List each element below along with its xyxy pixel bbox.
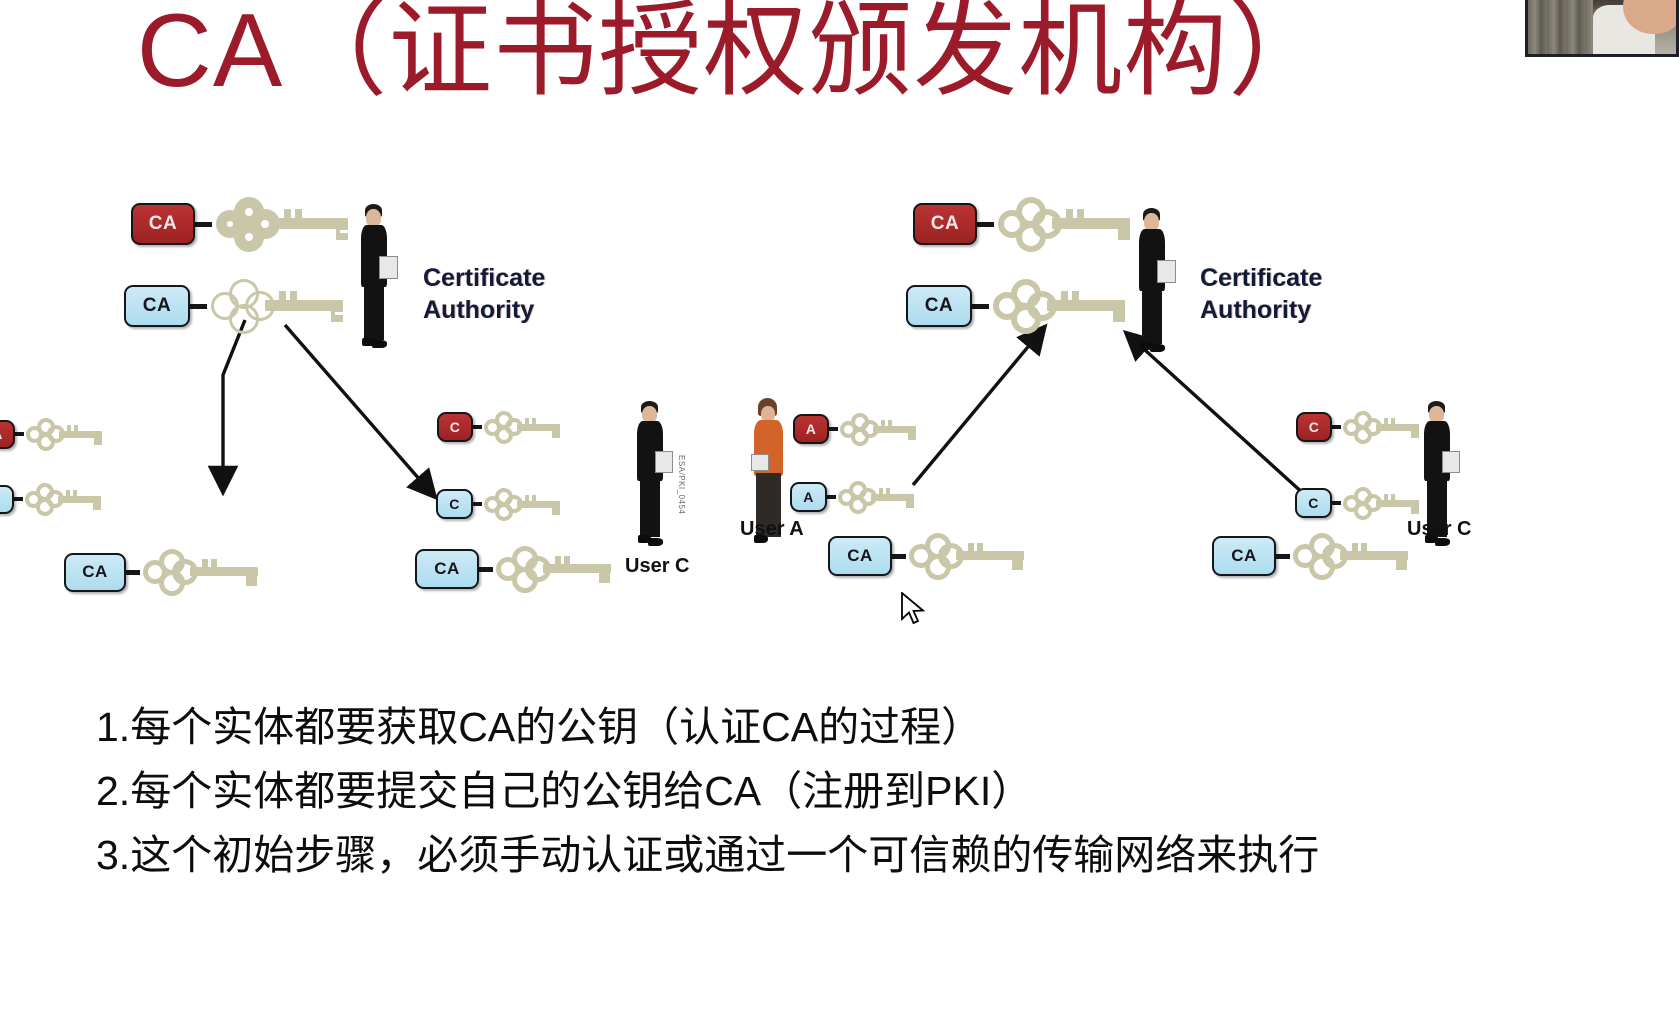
left-ca-private-key-icon — [212, 196, 352, 252]
right-user-a-ca-public-key-pair[interactable]: CA — [828, 532, 1026, 580]
tag-text: CA — [149, 213, 177, 235]
left-user-c-public-key-icon — [482, 487, 560, 521]
tag-text: A — [803, 489, 814, 505]
right-ca-public-key-icon — [989, 278, 1129, 334]
list-item: 3.这个初始步骤，必须手动认证或通过一个可信赖的传输网络来执行 — [96, 828, 1596, 883]
right-user-c-ca-public-key-stem — [1275, 554, 1290, 559]
right-ca-public-key-pair[interactable]: CA — [906, 278, 1129, 334]
left-certificate-authority-person — [352, 204, 394, 349]
right-user-a-ca-public-key-tag[interactable]: CA — [828, 536, 892, 576]
right-user-a-public-key-stem — [826, 495, 836, 499]
left-user-c-public-key-tag[interactable]: C — [436, 489, 473, 519]
presenter-webcam-overlay[interactable] — [1525, 0, 1679, 57]
right-user-c-public-key-stem — [1331, 501, 1341, 505]
left-user-c-private-key-pair[interactable]: C — [437, 410, 560, 444]
right-user-a-public-key-icon — [836, 480, 914, 514]
left-user-c-ca-public-key-stem — [478, 567, 493, 572]
right-user-c-label: User C — [1407, 518, 1471, 541]
tag-text: CA — [82, 562, 108, 582]
right-user-c-private-key-tag[interactable]: C — [1296, 412, 1332, 442]
left-user-a-private-key-tag[interactable]: A — [0, 420, 15, 449]
bullet-number: 3. — [96, 828, 130, 883]
tag-text: CA — [925, 295, 953, 317]
bullet-text: 每个实体都要获取CA的公钥（认证CA的过程） — [130, 704, 982, 750]
arrow-ca-to-user-a — [223, 320, 245, 480]
right-user-c-ca-public-key-tag[interactable]: CA — [1212, 536, 1276, 576]
right-user-c-ca-public-key-icon — [1290, 532, 1410, 580]
left-ca-private-key-tag[interactable]: CA — [131, 203, 195, 245]
list-item: 2.每个实体都要提交自己的公钥给CA（注册到PKI） — [96, 764, 1596, 819]
right-user-a-private-key-pair[interactable]: A — [793, 412, 916, 446]
right-user-c-public-key-tag[interactable]: C — [1295, 488, 1332, 518]
tag-text: C — [450, 419, 461, 435]
right-user-a-private-key-tag[interactable]: A — [793, 414, 829, 444]
right-user-a-private-key-stem — [828, 427, 838, 431]
right-user-a-public-key-tag[interactable]: A — [790, 482, 827, 512]
left-user-a-public-key-tag[interactable]: A — [0, 485, 14, 514]
left-user-a-public-key-pair[interactable]: A — [0, 482, 101, 516]
slide-bullet-list: 1.每个实体都要获取CA的公钥（认证CA的过程） 2.每个实体都要提交自己的公钥… — [96, 700, 1596, 892]
right-ca-private-key-stem — [976, 222, 994, 227]
left-user-c-private-key-tag[interactable]: C — [437, 412, 473, 442]
left-ca-public-key-tag[interactable]: CA — [124, 285, 190, 327]
right-user-a-public-key-pair[interactable]: A — [790, 480, 914, 514]
left-ca-public-key-stem — [189, 304, 207, 309]
arrow-user-a-to-ca — [913, 336, 1037, 485]
left-user-c-ca-public-key-icon — [493, 545, 613, 593]
tag-text: CA — [143, 295, 171, 317]
left-user-a-ca-public-key-tag[interactable]: CA — [64, 553, 126, 592]
pki-diagram-right-users-submit-public-key: CA CA — [740, 120, 1560, 660]
webcam-curtain-background — [1528, 0, 1596, 54]
left-user-a-ca-public-key-icon — [140, 548, 260, 596]
mouse-cursor — [900, 592, 930, 626]
page-title: CA（证书授权颁发机构） — [0, 0, 1470, 116]
tag-text: C — [449, 496, 460, 512]
tag-text: CA — [847, 546, 873, 566]
left-user-a-public-key-icon — [23, 482, 101, 516]
bullet-number: 2. — [96, 764, 130, 819]
bullet-number: 1. — [96, 700, 130, 755]
tag-text: A — [806, 421, 817, 437]
left-user-c-public-key-pair[interactable]: C — [436, 487, 560, 521]
left-user-c-private-key-stem — [472, 425, 482, 429]
right-user-a-ca-public-key-stem — [891, 554, 906, 559]
tag-text: C — [1309, 419, 1320, 435]
right-user-c-ca-public-key-pair[interactable]: CA — [1212, 532, 1410, 580]
left-ca-private-key-stem — [194, 222, 212, 227]
right-user-c-private-key-stem — [1331, 425, 1341, 429]
left-user-c-person — [628, 401, 670, 549]
tag-text: CA — [931, 213, 959, 235]
right-ca-private-key-tag[interactable]: CA — [913, 203, 977, 245]
tag-text: C — [1308, 495, 1319, 511]
left-user-a-ca-public-key-stem — [125, 570, 140, 575]
right-certificate-authority-label: Certificate Authority — [1200, 263, 1322, 326]
left-user-c-public-key-stem — [472, 502, 482, 506]
right-user-c-private-key-icon — [1341, 410, 1419, 444]
right-user-a-private-key-icon — [838, 412, 916, 446]
arrow-user-c-to-ca — [1135, 341, 1305, 495]
right-ca-public-key-stem — [971, 304, 989, 309]
right-ca-public-key-tag[interactable]: CA — [906, 285, 972, 327]
bullet-text: 每个实体都要提交自己的公钥给CA（注册到PKI） — [130, 768, 1032, 814]
tag-text: CA — [1231, 546, 1257, 566]
left-user-c-ca-public-key-pair[interactable]: CA — [415, 545, 613, 593]
right-ca-private-key-icon — [994, 196, 1134, 252]
left-user-a-private-key-icon — [24, 417, 102, 451]
tag-text: CA — [434, 559, 460, 579]
left-user-a-private-key-pair[interactable]: A — [0, 417, 102, 451]
left-user-c-private-key-icon — [482, 410, 560, 444]
right-user-c-public-key-pair[interactable]: C — [1295, 486, 1419, 520]
right-user-c-private-key-pair[interactable]: C — [1296, 410, 1419, 444]
right-certificate-authority-person — [1130, 208, 1172, 356]
left-user-c-ca-public-key-tag[interactable]: CA — [415, 549, 479, 589]
arrow-ca-to-user-c — [285, 325, 427, 488]
tag-text: A — [0, 491, 1, 507]
list-item: 1.每个实体都要获取CA的公钥（认证CA的过程） — [96, 700, 1596, 755]
right-user-a-label: User A — [740, 518, 804, 541]
left-user-c-label: User C — [625, 555, 689, 578]
left-user-a-public-key-stem — [13, 497, 23, 501]
pki-diagram-left-ca-distributes-public-key: CA CA — [0, 120, 740, 660]
left-ca-public-key-icon — [207, 278, 347, 334]
left-user-a-private-key-stem — [14, 432, 24, 436]
tag-text: A — [0, 426, 3, 442]
right-ca-private-key-pair[interactable]: CA — [913, 196, 1134, 252]
left-diagram-watermark: ESA/PKI_0454 — [677, 455, 686, 514]
pki-diagram: CA CA — [0, 120, 1679, 660]
right-user-a-ca-public-key-icon — [906, 532, 1026, 580]
left-ca-private-key-pair[interactable]: CA — [131, 196, 352, 252]
right-user-c-public-key-icon — [1341, 486, 1419, 520]
left-user-a-ca-public-key-pair[interactable]: CA — [64, 548, 260, 596]
left-certificate-authority-label: Certificate Authority — [423, 263, 545, 326]
left-ca-public-key-pair[interactable]: CA — [124, 278, 347, 334]
bullet-text: 这个初始步骤，必须手动认证或通过一个可信赖的传输网络来执行 — [130, 832, 1319, 878]
